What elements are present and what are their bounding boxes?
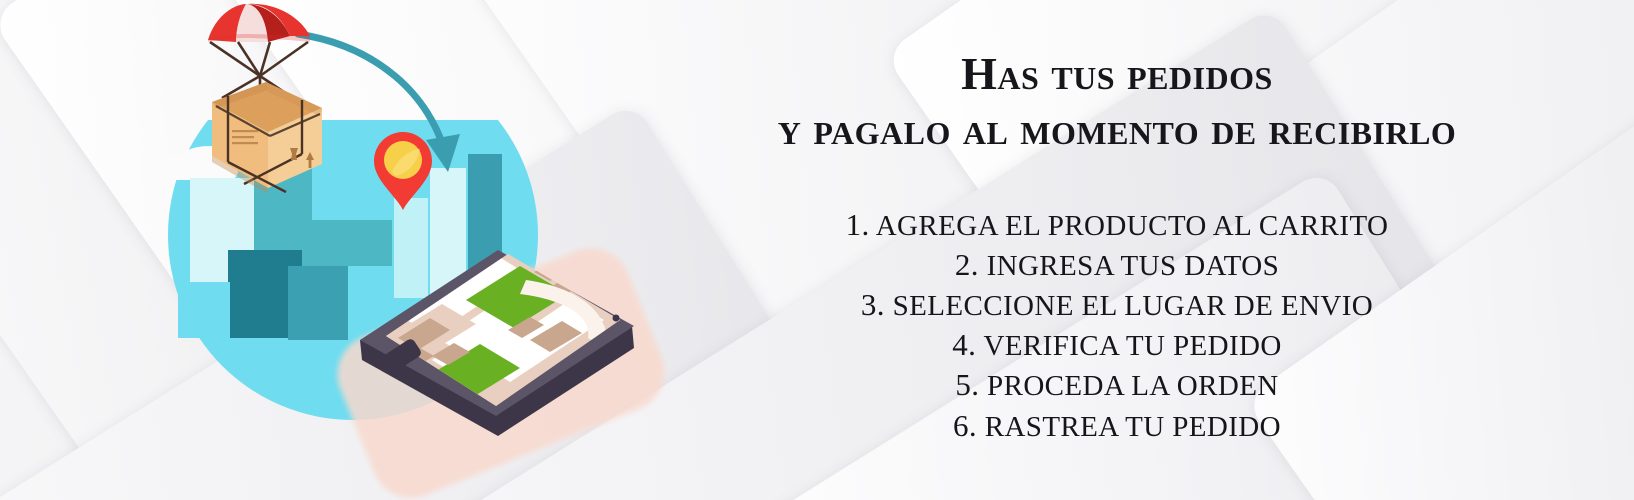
headline-line-2: y pagalo al momento de recibirlo [600,105,1634,154]
list-item: 6. RASTREA TU PEDIDO [600,406,1634,446]
step-number: 1. [846,207,870,242]
list-item: 2. INGRESA TUS DATOS [600,245,1634,285]
headline-line-1: Has tus pedidos [600,50,1634,99]
step-label: RASTREA TU PEDIDO [985,411,1281,443]
list-item: 5. PROCEDA LA ORDEN [600,365,1634,405]
building-icon [178,282,230,338]
parachute-package-icon [170,2,380,202]
steps-list: 1. AGREGA EL PRODUCTO AL CARRITO 2. INGR… [600,205,1634,446]
step-number: 4. [952,327,976,362]
map-location-pin-icon [372,130,434,212]
step-label: PROCEDA LA ORDEN [987,370,1279,402]
step-number: 2. [955,247,979,282]
promo-banner: Has tus pedidos y pagalo al momento de r… [0,0,1634,500]
list-item: 4. VERIFICA TU PEDIDO [600,325,1634,365]
step-label: INGRESA TUS DATOS [987,250,1280,282]
step-number: 3. [861,287,885,322]
headline: Has tus pedidos y pagalo al momento de r… [600,50,1634,154]
list-item: 3. SELECCIONE EL LUGAR DE ENVIO [600,285,1634,325]
step-label: VERIFICA TU PEDIDO [983,330,1281,362]
list-item: 1. AGREGA EL PRODUCTO AL CARRITO [600,205,1634,245]
step-label: SELECCIONE EL LUGAR DE ENVIO [893,290,1374,322]
step-number: 5. [955,367,979,402]
step-number: 6. [953,408,977,443]
delivery-illustration [150,0,670,500]
text-column: Has tus pedidos y pagalo al momento de r… [600,0,1634,500]
step-label: AGREGA EL PRODUCTO AL CARRITO [876,210,1389,242]
